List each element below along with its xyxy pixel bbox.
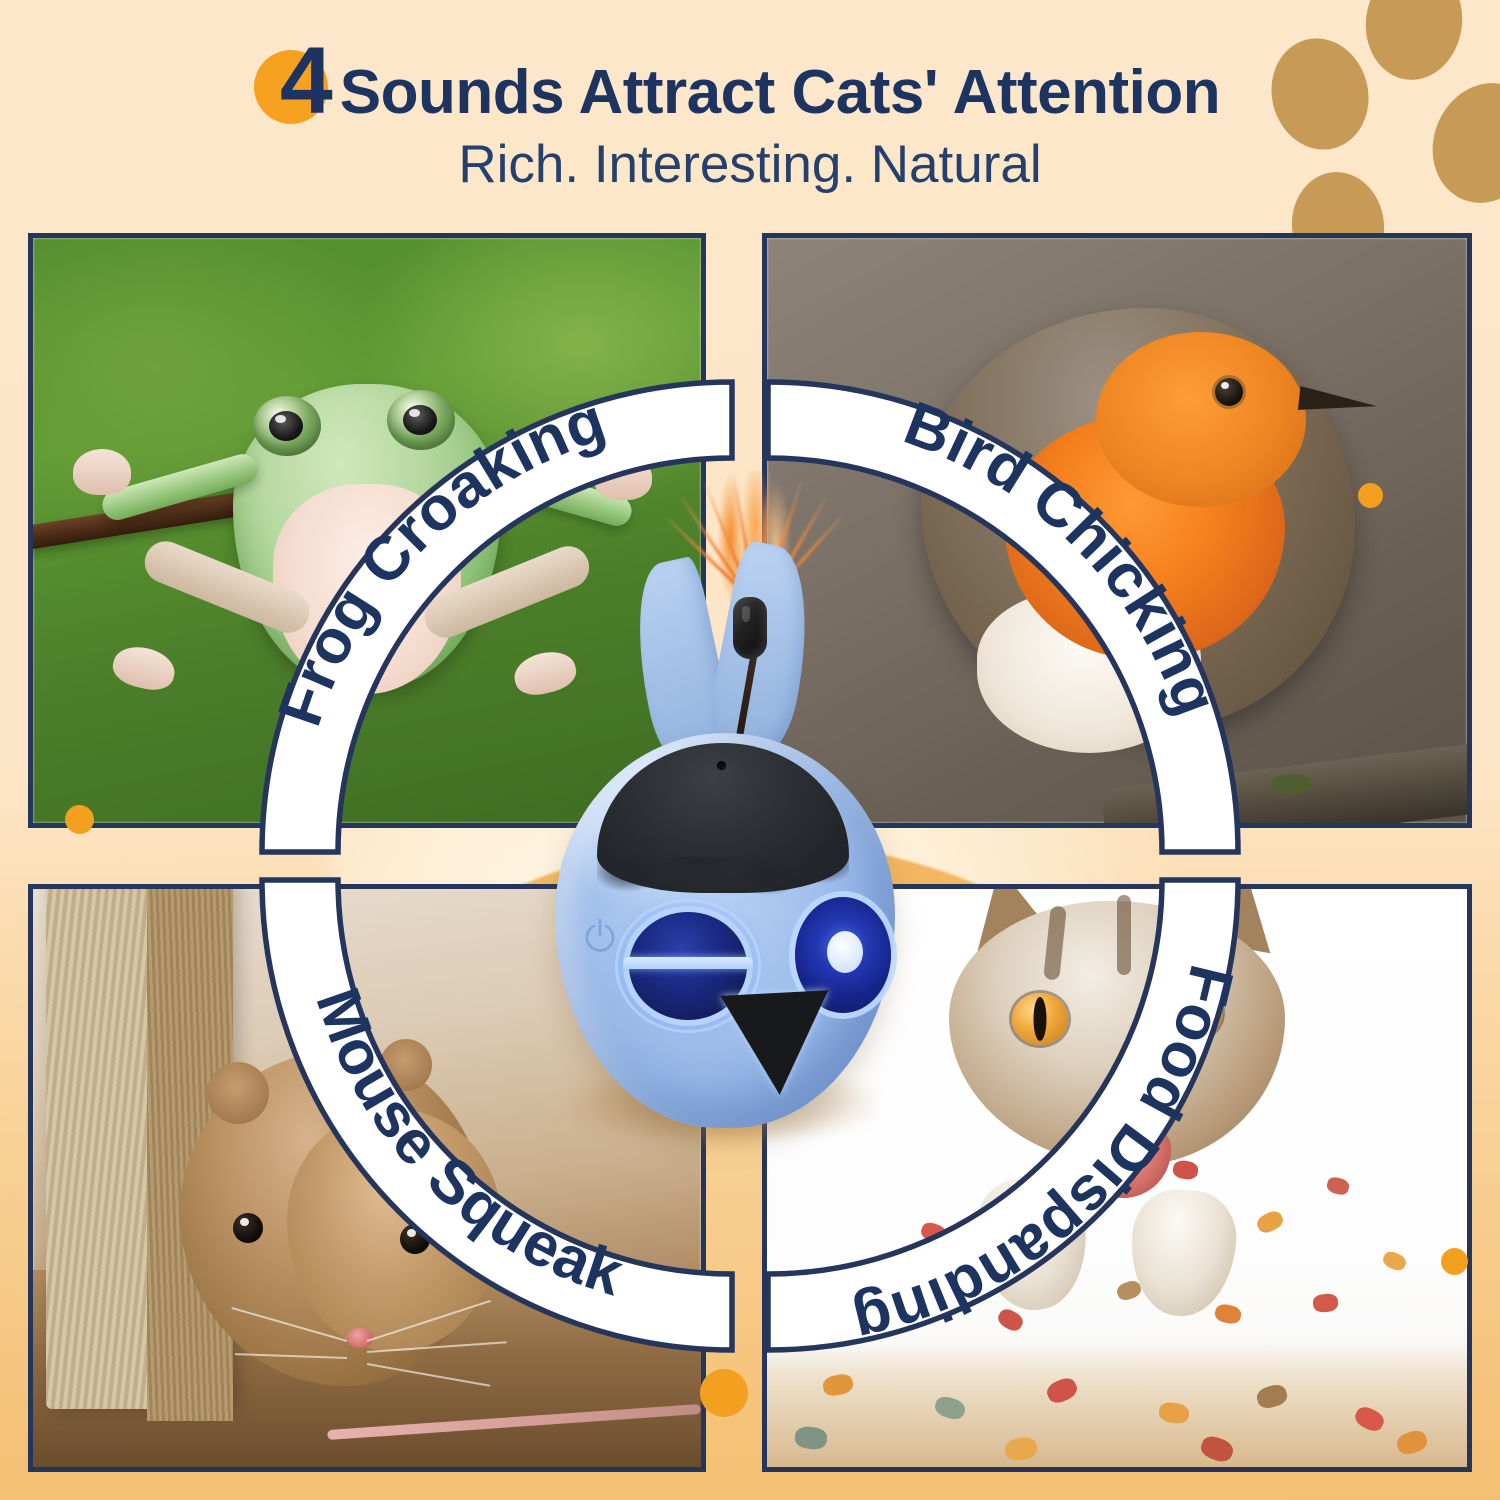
- sound-count-number: 4: [280, 28, 331, 134]
- accent-dot-bottom-mid: [700, 1369, 748, 1417]
- sound-count-badge: 4: [280, 36, 331, 126]
- product-image-cat-toy: [545, 465, 905, 1165]
- poster-canvas: 4 Sounds Attract Cats' Attention Rich. I…: [0, 0, 1500, 1500]
- accent-dot-bird: [1358, 483, 1383, 508]
- headline-row: 4 Sounds Attract Cats' Attention: [280, 36, 1220, 128]
- left-eye-divider: [623, 957, 753, 969]
- power-icon[interactable]: [583, 917, 617, 957]
- poster-header: 4 Sounds Attract Cats' Attention Rich. I…: [0, 0, 1500, 195]
- beak: [720, 990, 833, 1098]
- microphone-hole: [717, 761, 726, 770]
- accent-dot-left: [65, 805, 94, 834]
- bell-attachment: [733, 597, 767, 659]
- page-title: Sounds Attract Cats' Attention: [340, 57, 1220, 128]
- right-eye-highlight: [827, 931, 863, 973]
- page-subtitle: Rich. Interesting. Natural: [0, 134, 1500, 195]
- accent-dot-right: [1441, 1248, 1468, 1275]
- cap-wave-edge: [597, 857, 849, 903]
